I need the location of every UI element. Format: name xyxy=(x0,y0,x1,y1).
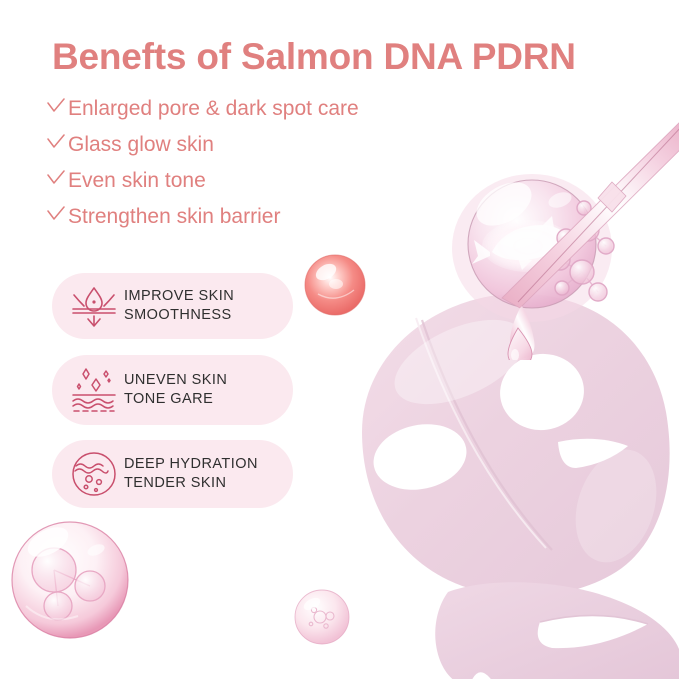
product-benefits-infographic: Benefts of Salmon DNA PDRN Enlarged pore… xyxy=(0,0,679,679)
benefit-label: Glass glow skin xyxy=(68,133,214,157)
red-gloss-sphere xyxy=(300,250,370,325)
pill-line-1: IMPROVE SKIN xyxy=(124,288,234,304)
pill-line-2: TENDER SKIN xyxy=(124,475,226,491)
serum-dropper-pipette xyxy=(440,120,679,365)
check-mark-icon xyxy=(46,206,68,222)
pink-molecule-sphere xyxy=(4,514,138,653)
sheet-mask-product-image xyxy=(330,292,679,679)
pill-line-1: UNEVEN SKIN xyxy=(124,372,227,388)
benefit-label: Even skin tone xyxy=(68,169,206,193)
benefit-list: Enlarged pore & dark spot care Glass glo… xyxy=(46,97,466,241)
benefit-label: Strengthen skin barrier xyxy=(68,205,280,229)
check-mark-icon xyxy=(46,134,68,150)
pill-line-2: SMOOTHNESS xyxy=(124,307,232,323)
pill-line-1: DEEP HYDRATION xyxy=(124,456,258,472)
feature-pill-improve-skin-smoothness: IMPROVE SKIN SMOOTHNESS xyxy=(52,273,293,339)
water-circle-with-bubbles-icon xyxy=(64,448,124,500)
glass-bubble-with-salmon-and-molecule xyxy=(448,160,648,345)
pill-line-2: TONE GARE xyxy=(124,391,213,407)
page-title: Benefts of Salmon DNA PDRN xyxy=(52,36,576,78)
benefit-item: Glass glow skin xyxy=(46,133,466,169)
feature-pill-deep-hydration: DEEP HYDRATION TENDER SKIN xyxy=(52,440,293,508)
sparkles-over-wavy-lines-icon xyxy=(64,364,124,416)
feature-pill-label: UNEVEN SKIN TONE GARE xyxy=(124,371,227,408)
benefit-item: Even skin tone xyxy=(46,169,466,205)
benefit-label: Enlarged pore & dark spot care xyxy=(68,97,359,121)
feature-pill-label: IMPROVE SKIN SMOOTHNESS xyxy=(124,287,234,324)
benefit-item: Enlarged pore & dark spot care xyxy=(46,97,466,133)
benefit-item: Strengthen skin barrier xyxy=(46,205,466,241)
droplet-absorbing-into-skin-layers-icon xyxy=(64,280,124,332)
check-mark-icon xyxy=(46,170,68,186)
check-mark-icon xyxy=(46,98,68,114)
small-pink-bubble xyxy=(292,586,354,653)
feature-pill-uneven-skin-tone: UNEVEN SKIN TONE GARE xyxy=(52,355,293,425)
feature-pill-label: DEEP HYDRATION TENDER SKIN xyxy=(124,455,258,492)
